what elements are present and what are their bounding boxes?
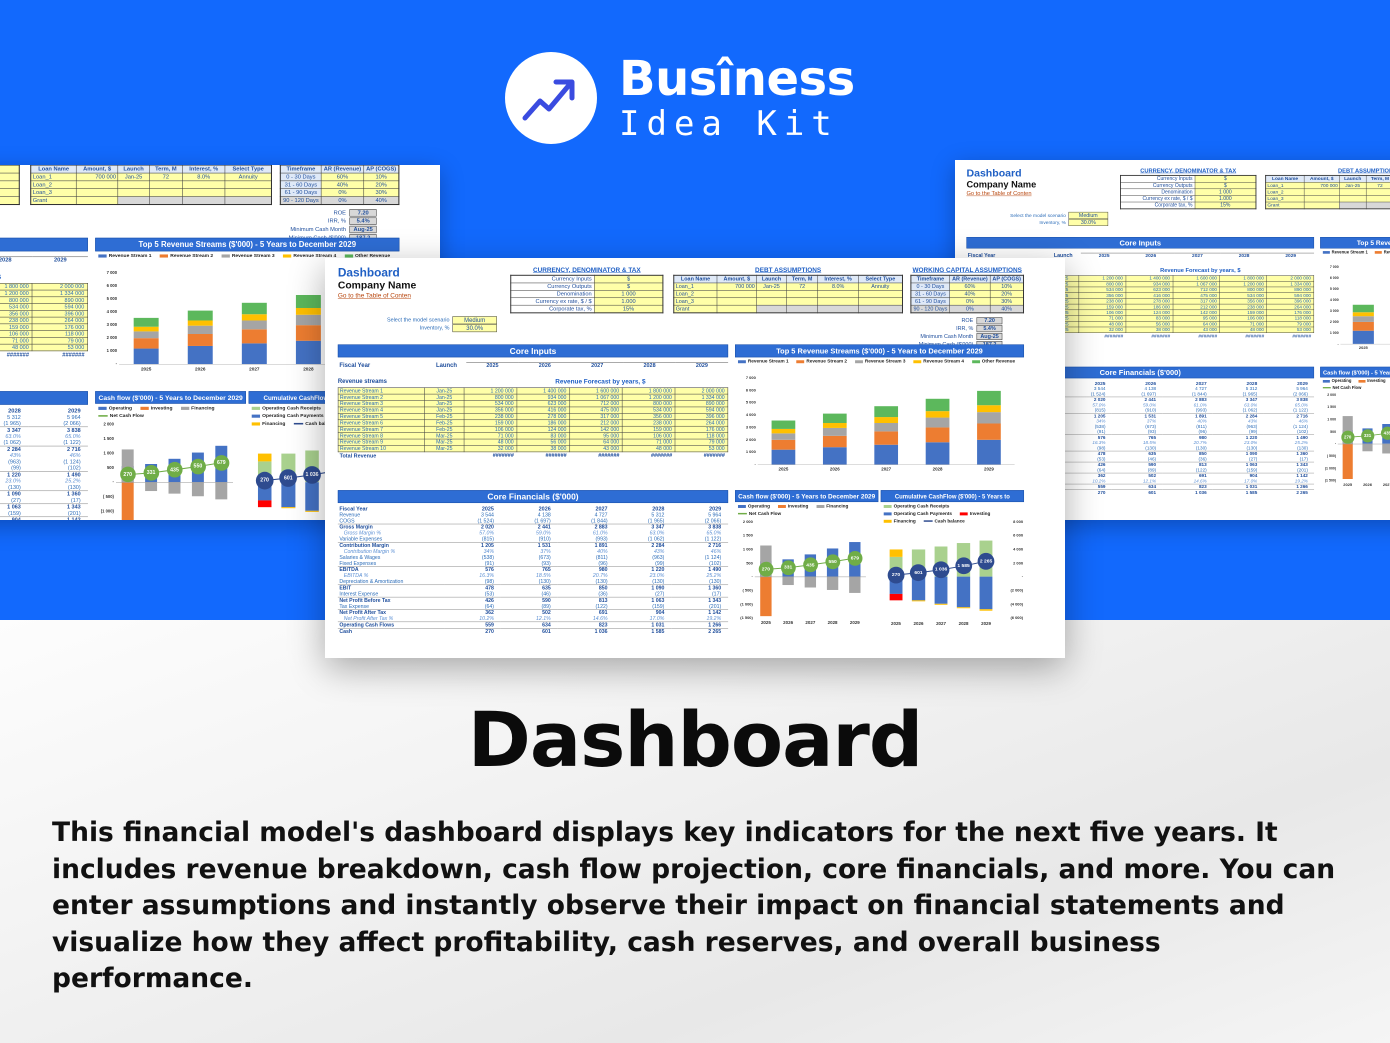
table-cell[interactable]: 61 - 90 Days — [280, 189, 321, 197]
table-row[interactable]: 0 - 30 Days60%10% — [280, 173, 399, 181]
legend-label: Financing — [191, 405, 214, 411]
table-cell[interactable]: 20% — [990, 290, 1023, 297]
table-cell[interactable]: 0% — [321, 189, 364, 197]
chart-legend: Revenue Stream 1Revenue Stream 2Revenue … — [1320, 248, 1390, 255]
legend-item: Revenue Stream 1 — [1323, 250, 1368, 255]
year-header-row: 20252026202720282029 — [1081, 253, 1314, 259]
table-cell[interactable] — [76, 196, 118, 204]
x-axis-tick: 2026 — [809, 466, 860, 471]
bar-segment — [772, 450, 796, 465]
table-of-contents-link[interactable]: Go to the Table of Conten — [338, 292, 416, 299]
revenue-stream-row[interactable]: Revenue Stream 3Jan-25534 000623 000712 … — [0, 297, 88, 304]
legend-label: Revenue Stream 1 — [1332, 250, 1368, 255]
financial-value: 601 — [501, 628, 558, 634]
table-row[interactable]: 0 - 30 Days60%10% — [911, 283, 1024, 290]
total-revenue-value: ####### — [1126, 333, 1173, 339]
table-cell[interactable]: 700 000 — [717, 283, 756, 290]
revenue-stream-row[interactable]: Revenue Stream 8Mar-2571 00083 00095 000… — [0, 331, 88, 338]
table-of-contents-link[interactable]: Go to the Table of Conten — [966, 190, 1036, 197]
currency-value[interactable]: 15% — [0, 196, 19, 204]
total-revenue-value: ####### — [0, 351, 32, 359]
currency-row: Currency Inputs$ — [511, 275, 663, 283]
table-cell[interactable]: 0 - 30 Days — [280, 173, 321, 181]
table-cell[interactable]: 700 000 — [76, 173, 118, 181]
table-cell[interactable] — [786, 305, 817, 313]
bar-segment — [134, 349, 159, 365]
table-cell[interactable] — [1304, 202, 1339, 209]
stream-value[interactable]: 79 000 — [32, 337, 88, 344]
table-cell[interactable]: 8.0% — [818, 283, 859, 290]
stream-value[interactable]: 356 000 — [0, 310, 32, 317]
revenue-stream-row[interactable]: Revenue Stream 2Jan-25800 000934 0001 06… — [0, 290, 88, 297]
stream-value[interactable]: 594 000 — [32, 304, 88, 311]
stream-value[interactable]: 71 000 — [0, 337, 32, 344]
y-axis-tick: 5 000 — [1322, 287, 1339, 291]
table-cell[interactable]: 0 - 30 Days — [911, 283, 950, 290]
bar-segment — [977, 440, 1001, 465]
currency-rows: Currency Inputs$Currency Outputs$Denomin… — [511, 275, 663, 313]
inventory-input[interactable]: 30.0% — [452, 324, 496, 332]
chart-cash-flow[interactable]: Cash flow ($'000) - 5 Years to December … — [735, 490, 878, 638]
legend-item: Net Cash Flow — [738, 511, 781, 516]
y-axis-tick: 4 000 — [1322, 298, 1339, 302]
table-cell[interactable] — [858, 305, 902, 313]
stream-value[interactable]: 396 000 — [32, 310, 88, 317]
legend-item: Operating — [98, 405, 132, 411]
stream-value[interactable]: 118 000 — [32, 331, 88, 338]
stream-value[interactable]: 2 000 000 — [32, 283, 88, 290]
chart-legend: OperatingInvestingFinancingNet Cash Flow — [1320, 377, 1390, 391]
financial-value: 1 585 — [1213, 490, 1264, 496]
y-axis-tick: 2 000 — [1322, 320, 1339, 324]
data-bubble: 2 265 — [978, 553, 995, 570]
legend-label: Other Revenue — [982, 359, 1015, 364]
table-cell[interactable]: 72 — [149, 173, 182, 181]
revenue-stream-row[interactable]: Revenue Stream 9Mar-2548 00056 00064 000… — [0, 337, 88, 344]
table-cell[interactable] — [858, 298, 902, 305]
kpi-label: ROE — [289, 209, 349, 216]
table-cell[interactable] — [149, 181, 182, 189]
total-revenue-value: ####### — [1079, 333, 1126, 339]
stream-value[interactable]: 53 000 — [32, 344, 88, 351]
legend-swatch — [1323, 387, 1331, 388]
legend-label: Operating Cash Payments — [262, 413, 323, 419]
table-cell[interactable]: 30% — [364, 189, 399, 197]
legend-item: Revenue Stream 4 — [913, 359, 964, 364]
table-cell[interactable] — [1366, 195, 1390, 202]
legend-swatch — [98, 407, 106, 410]
stream-value[interactable]: 176 000 — [32, 324, 88, 331]
core-financials-header: Core Financials ($'000) — [338, 490, 728, 503]
stream-value[interactable]: 1 200 000 — [0, 290, 32, 297]
revenue-stream-table[interactable]: Revenue Stream 1Jan-251 200 0001 400 000… — [338, 387, 728, 459]
bar-segment — [134, 331, 159, 338]
bar-segment — [1353, 316, 1374, 322]
legend-item: Revenue Stream 2 — [160, 253, 213, 259]
scenario-select[interactable]: Medium — [1069, 212, 1109, 219]
table-cell[interactable]: 0% — [950, 305, 990, 313]
data-bubble: 1 585 — [955, 558, 972, 575]
table-cell[interactable] — [717, 290, 756, 297]
scenario-select[interactable]: Medium — [452, 316, 496, 324]
table-cell[interactable] — [818, 298, 859, 305]
table-cell[interactable]: 0% — [321, 196, 364, 204]
table-cell[interactable]: 20% — [364, 181, 399, 189]
bar-segment — [874, 423, 898, 432]
table-cell[interactable]: Annuity — [225, 173, 271, 181]
table-cell[interactable] — [1366, 202, 1390, 209]
table-cell[interactable] — [757, 305, 787, 313]
currency-row: Denomination1 000 — [511, 290, 663, 297]
currency-value[interactable]: 1.000 — [0, 189, 19, 197]
legend-swatch — [884, 505, 892, 508]
table-cell[interactable]: Grant — [674, 305, 717, 313]
financial-value: 1 036 — [558, 628, 615, 634]
revenue-stream-row[interactable]: Revenue Stream 7Feb-25106 000124 000142 … — [0, 324, 88, 331]
revenue-stream-row[interactable]: Revenue Stream 10Mar-2532 00038 00043 00… — [0, 344, 88, 351]
kpi-value: 5.4% — [350, 218, 377, 225]
currency-value[interactable]: 1.000 — [594, 298, 662, 305]
currency-label: Currency ex rate, $ / $ — [511, 298, 595, 305]
table-cell[interactable] — [1339, 195, 1366, 202]
dashboard-title: Dashboard — [966, 167, 1036, 179]
table-cell[interactable]: Jan-25 — [757, 283, 787, 290]
stream-value[interactable]: 264 000 — [32, 317, 88, 324]
bar-segment — [242, 303, 267, 314]
stream-value[interactable]: 890 000 — [32, 297, 88, 304]
table-cell[interactable]: 8.0% — [182, 173, 225, 181]
legend-label: Net Cash Flow — [1333, 385, 1362, 390]
table-row[interactable]: 90 - 120 Days0%40% — [911, 305, 1024, 313]
currency-value[interactable]: $ — [594, 275, 662, 283]
y-axis-tick: 1 000 — [1322, 331, 1339, 335]
table-cell[interactable]: Loan_1 — [674, 283, 717, 290]
chart-cumulative-cashflow[interactable]: Cumulative CashFlow ($'000) - 5 Years to… — [881, 490, 1024, 638]
table-cell[interactable]: 72 — [786, 283, 817, 290]
table-cell[interactable]: 10% — [990, 283, 1023, 290]
zero-line — [116, 482, 233, 483]
x-axis-tick: 2025 — [119, 366, 173, 371]
currency-row: Currency ex rate, $ / $1.000 — [1120, 195, 1256, 202]
table-cell[interactable]: Loan_3 — [1266, 195, 1305, 202]
bar-segment — [977, 412, 1001, 423]
stream-value[interactable]: 1 334 000 — [32, 290, 88, 297]
bar-segment — [134, 318, 159, 326]
legend-swatch — [1323, 251, 1330, 254]
table-cell[interactable] — [786, 298, 817, 305]
year-header: 2026 — [519, 362, 571, 368]
table-cell[interactable]: 40% — [990, 305, 1023, 313]
chart-cash-flow[interactable]: Cash flow ($'000) - 5 Years to December … — [1320, 367, 1390, 499]
bar-segment — [296, 295, 321, 308]
column-header: Amount, $ — [76, 165, 118, 173]
legend-item: Operating — [1323, 379, 1352, 384]
revenue-streams-label: Revenue streams — [338, 378, 387, 385]
legend-swatch — [1375, 251, 1382, 254]
table-cell[interactable]: Loan_2 — [31, 181, 77, 189]
legend-item: Investing — [140, 405, 172, 411]
x-axis-tick: 2029 — [963, 466, 1014, 471]
revenue-stream-row[interactable]: Revenue Stream 5Feb-25238 000278 000317 … — [0, 310, 88, 317]
currency-value[interactable]: 1 000 — [0, 181, 19, 189]
legend-label: Operating Cash Receipts — [894, 504, 950, 509]
table-cell[interactable] — [225, 189, 271, 197]
financial-value: 270 — [1061, 490, 1112, 496]
table-row[interactable]: Loan_3 — [31, 189, 272, 197]
bar-segment — [772, 421, 796, 429]
stream-value[interactable]: 534 000 — [0, 304, 32, 311]
table-cell[interactable]: 90 - 120 Days — [280, 196, 321, 204]
wc-table-body[interactable]: 0 - 30 Days60%10%31 - 60 Days40%20%61 - … — [280, 173, 399, 204]
total-revenue-row: Total Revenue###########################… — [0, 351, 88, 359]
table-cell[interactable] — [76, 181, 118, 189]
legend-swatch — [913, 360, 921, 363]
debt-table-header: Loan NameAmount, $LaunchTerm, MInterest,… — [674, 275, 903, 283]
table-cell[interactable]: Loan_1 — [31, 173, 77, 181]
table-cell[interactable]: Loan_3 — [674, 298, 717, 305]
financial-value: 904 — [0, 517, 28, 520]
table-cell[interactable] — [1339, 202, 1366, 209]
table-cell[interactable] — [118, 196, 150, 204]
year-header: 2029 — [33, 257, 88, 264]
bar-segment — [242, 314, 267, 320]
table-row[interactable]: Grant — [31, 196, 272, 204]
data-bubble: 331 — [143, 465, 159, 481]
table-row[interactable]: 61 - 90 Days0%30% — [280, 189, 399, 197]
column-header: AP (COGS) — [364, 165, 399, 173]
table-cell[interactable]: Grant — [1266, 202, 1305, 209]
kpi-value: 7.20 — [977, 317, 1003, 324]
table-cell[interactable] — [1304, 195, 1339, 202]
kpi-row: Minimum Cash MonthAug-25 — [289, 226, 377, 233]
table-cell[interactable] — [225, 196, 271, 204]
y-axis-tick: 5 000 — [97, 297, 117, 302]
data-bubble: 331 — [781, 560, 796, 575]
table-cell[interactable]: 90 - 120 Days — [911, 305, 950, 313]
inventory-input[interactable]: 30.0% — [1069, 219, 1109, 226]
bar-segment — [874, 406, 898, 417]
table-row[interactable]: Loan_1700 000Jan-25728.0%Annuity — [674, 283, 903, 290]
currency-value[interactable]: $ — [594, 283, 662, 290]
x-axis-tick: 2025 — [1340, 346, 1386, 350]
legend-swatch — [816, 505, 824, 508]
kpi-row: IRR, %5.4% — [919, 325, 1003, 332]
y-axis-tick: 3 000 — [737, 425, 756, 429]
total-revenue-row: Total Revenue###########################… — [338, 452, 728, 459]
revenue-stream-row[interactable]: Revenue Stream 6Feb-25159 000186 000212 … — [0, 317, 88, 324]
chart-cash-flow[interactable]: Cash flow ($'000) - 5 Years to December … — [95, 391, 246, 520]
table-cell[interactable]: 31 - 60 Days — [280, 181, 321, 189]
bar-segment — [772, 433, 796, 440]
stream-value[interactable]: 106 000 — [0, 331, 32, 338]
currency-row: Currency ex rate, $ / $1.000 — [511, 298, 663, 305]
revenue-stream-table[interactable]: Revenue Stream 1Jan-251 200 0001 400 000… — [0, 283, 88, 358]
bar-segment — [296, 325, 321, 341]
table-cell[interactable] — [182, 189, 225, 197]
bar-segment — [296, 315, 321, 325]
currency-value[interactable]: 1.000 — [1195, 195, 1256, 202]
kpi-label: ROE — [919, 317, 976, 324]
x-axis-tick: 2025 — [758, 466, 809, 471]
bar-segment — [823, 436, 847, 448]
dashboard-title: Dashboard — [338, 266, 416, 280]
table-cell[interactable]: 61 - 90 Days — [911, 298, 950, 305]
table-cell[interactable]: Loan_3 — [31, 189, 77, 197]
legend-item: Other Revenue — [972, 359, 1015, 364]
data-bubble: 550 — [190, 459, 206, 475]
table-row[interactable]: Loan_2 — [31, 181, 272, 189]
table-cell[interactable]: 30% — [990, 298, 1023, 305]
bar-segment — [926, 418, 950, 428]
table-cell[interactable] — [118, 181, 150, 189]
table-row[interactable]: 31 - 60 Days40%20% — [911, 290, 1024, 297]
table-row[interactable]: Loan_3 — [674, 298, 903, 305]
currency-row: Corporate tax, %15% — [511, 305, 663, 313]
chart-top5-revenue-streams[interactable]: Top 5 Revenue Streams ($'000) - 5 Years … — [735, 344, 1024, 485]
currency-value[interactable]: $ — [0, 173, 19, 181]
bar-segment — [188, 346, 213, 364]
table-cell[interactable]: Jan-25 — [118, 173, 150, 181]
table-row[interactable]: 31 - 60 Days40%20% — [280, 181, 399, 189]
table-cell[interactable] — [182, 196, 225, 204]
table-cell[interactable] — [717, 305, 756, 313]
currency-row: Corporate tax, %15% — [0, 196, 19, 204]
year-header: 2027 — [571, 362, 623, 368]
dashboard-screenshot-center[interactable]: Dashboard Company Name Go to the Table o… — [325, 258, 1065, 658]
chart-top5-revenue-streams[interactable]: Top 5 Revenue Streams ($'000) - 5 Years … — [1320, 237, 1390, 362]
table-cell[interactable]: 40% — [321, 181, 364, 189]
debt-table-body[interactable]: Loan_1700 000Jan-25728.0%AnnuityLoan_2Lo… — [1266, 182, 1390, 209]
table-cell[interactable]: 40% — [364, 196, 399, 204]
table-cell[interactable] — [118, 189, 150, 197]
table-row[interactable]: Loan_2 — [674, 290, 903, 297]
legend-label: Operating Cash Receipts — [262, 405, 321, 411]
x-axis-tick: 2026 — [173, 366, 227, 371]
table-cell[interactable]: 60% — [321, 173, 364, 181]
legend-item: Revenue Stream 1 — [98, 253, 151, 259]
table-cell[interactable]: 31 - 60 Days — [911, 290, 950, 297]
table-cell[interactable] — [818, 305, 859, 313]
legend-item: Net Cash Flow — [1323, 385, 1361, 390]
total-revenue-value: ####### — [517, 452, 570, 459]
table-cell[interactable] — [182, 181, 225, 189]
table-cell[interactable] — [149, 196, 182, 204]
currency-row: Corporate tax, %15% — [1120, 202, 1256, 209]
bar-segment — [188, 334, 213, 346]
revenue-stream-row[interactable]: Revenue Stream 4Jan-25356 000416 000475 … — [0, 304, 88, 311]
table-cell[interactable]: 40% — [950, 290, 990, 297]
y-axis-tick: 2 000 — [97, 336, 117, 341]
currency-value[interactable]: $ — [0, 165, 19, 173]
year-header: 2029 — [1267, 253, 1314, 259]
currency-label: Currency Outputs — [511, 283, 595, 290]
column-header: Launch — [118, 165, 150, 173]
table-cell[interactable]: 10% — [364, 173, 399, 181]
data-bubble: 270 — [256, 472, 274, 490]
table-cell[interactable]: 60% — [950, 283, 990, 290]
table-row[interactable]: Grant — [674, 305, 903, 313]
stream-value[interactable]: 238 000 — [0, 317, 32, 324]
legend-item: Investing — [960, 511, 990, 516]
table-row[interactable]: Loan_1700 000Jan-25728.0%Annuity — [31, 173, 272, 181]
table-cell[interactable] — [818, 290, 859, 297]
wc-table-body[interactable]: 0 - 30 Days60%10%31 - 60 Days40%20%61 - … — [911, 283, 1024, 313]
debt-table-body[interactable]: Loan_1700 000Jan-25728.0%AnnuityLoan_2Lo… — [674, 283, 903, 313]
currency-value[interactable]: 1 000 — [594, 290, 662, 297]
table-row[interactable]: 90 - 120 Days0%40% — [280, 196, 399, 204]
legend-label: Investing — [970, 511, 991, 516]
inventory-label: Inventory, % — [986, 219, 1067, 226]
column-header: Launch — [1339, 175, 1366, 182]
table-cell[interactable] — [149, 189, 182, 197]
brand-name-line1: Busîness — [619, 55, 855, 103]
wc-table-header: TimeframeAR (Revenue)AP (COGS) — [280, 165, 399, 173]
column-header: Term, M — [149, 165, 182, 173]
currency-value[interactable]: $ — [1195, 175, 1256, 182]
table-cell[interactable] — [717, 298, 756, 305]
stream-value[interactable]: 1 800 000 — [0, 283, 32, 290]
total-revenue-value: ####### — [675, 452, 728, 459]
debt-table-header: Loan NameAmount, $LaunchTerm, MInterest,… — [31, 165, 272, 173]
table-row[interactable]: 61 - 90 Days0%30% — [911, 298, 1024, 305]
revenue-forecast-title: Revenue Forecast by years, $ — [473, 378, 727, 385]
table-row[interactable]: Loan_3 — [1266, 195, 1390, 202]
table-cell[interactable]: Annuity — [858, 283, 902, 290]
column-header: Loan Name — [1266, 175, 1305, 182]
debt-table-body[interactable]: Loan_1700 000Jan-25728.0%AnnuityLoan_2Lo… — [31, 173, 272, 204]
table-cell[interactable]: Grant — [31, 196, 77, 204]
table-cell[interactable] — [786, 290, 817, 297]
table-cell[interactable] — [757, 290, 787, 297]
y-axis-tick: 3 000 — [1322, 309, 1339, 313]
year-header: 2025 — [466, 362, 518, 368]
year-header-row: 20252026202720282029 — [466, 362, 728, 368]
chart-legend: OperatingInvestingFinancingNet Cash Flow — [95, 404, 246, 421]
x-axis-tick: 2026 — [1386, 346, 1390, 350]
y-axis-tick: 6 000 — [737, 388, 756, 392]
table-cell[interactable]: 0% — [950, 298, 990, 305]
data-bubble: 679 — [213, 455, 229, 471]
kpi-value: Aug-25 — [977, 333, 1003, 340]
legend-swatch — [252, 407, 260, 410]
legend-label: Operating — [109, 405, 132, 411]
table-cell[interactable] — [225, 181, 271, 189]
brand-name-line2: Idea Kit — [619, 107, 855, 141]
currency-value[interactable]: 15% — [594, 305, 662, 313]
kpi-value: 5.4% — [977, 325, 1003, 332]
currency-value[interactable]: 15% — [1195, 202, 1256, 209]
currency-row: Currency ex rate, $ / $1.000 — [0, 189, 19, 197]
legend-label: Net Cash Flow — [110, 413, 144, 419]
table-cell[interactable] — [757, 298, 787, 305]
y-axis-tick: - — [97, 362, 117, 367]
year-header: 2028 — [0, 257, 33, 264]
y-axis-tick: 3 000 — [97, 323, 117, 328]
column-header: Interest, % — [818, 275, 859, 283]
stream-value[interactable]: 800 000 — [0, 297, 32, 304]
revenue-stream-row[interactable]: Revenue Stream 1Jan-251 200 0001 400 000… — [0, 283, 88, 290]
stream-value[interactable]: 48 000 — [0, 344, 32, 351]
table-cell[interactable] — [76, 189, 118, 197]
currency-box-title: CURRENCY, DENOMINATOR & TAX — [1120, 167, 1256, 174]
scenario-label: Select the model scenario — [360, 316, 451, 324]
legend-swatch — [160, 254, 168, 257]
table-cell[interactable]: Loan_2 — [674, 290, 717, 297]
kpi-row: ROE7.20 — [289, 209, 377, 216]
table-row[interactable]: Grant — [1266, 202, 1390, 209]
table-cell[interactable] — [858, 290, 902, 297]
stream-value[interactable]: 159 000 — [0, 324, 32, 331]
